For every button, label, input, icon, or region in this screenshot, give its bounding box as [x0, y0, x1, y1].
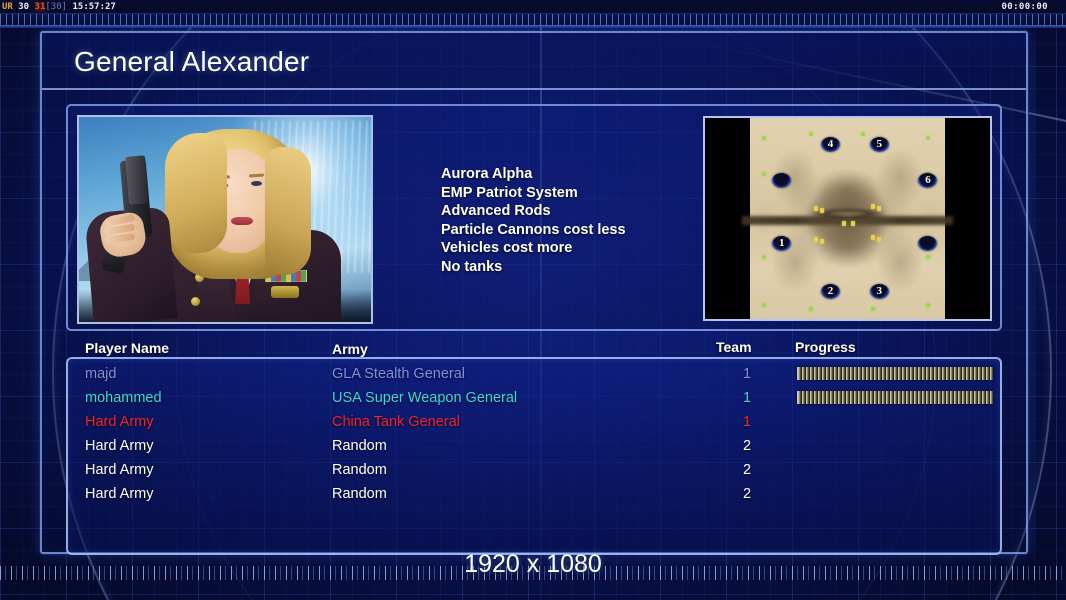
player-progress-bar	[797, 391, 993, 404]
supply-dock-icon	[926, 255, 930, 259]
map-start-position[interactable]	[918, 236, 937, 251]
oil-derrick-icon	[851, 221, 855, 226]
ability-line: Advanced Rods	[441, 202, 691, 221]
match-timer: 00:00:00	[1001, 1, 1048, 13]
top-ruler-strip	[0, 14, 1066, 25]
supply-dock-icon	[762, 172, 766, 176]
portrait-lips	[231, 217, 253, 225]
supply-dock-icon	[871, 307, 875, 311]
general-abilities-list: Aurora AlphaEMP Patriot SystemAdvanced R…	[441, 165, 691, 277]
oil-derrick-icon	[871, 204, 875, 209]
column-header-player-name: Player Name	[85, 340, 169, 356]
player-army-cell: Random	[332, 434, 387, 458]
player-army-cell: Random	[332, 482, 387, 506]
map-start-position[interactable]: 5	[870, 137, 889, 152]
pistol-slide-icon	[125, 155, 149, 205]
debug-prefix: UR	[2, 2, 13, 12]
oil-derrick-icon	[814, 237, 818, 242]
portrait-hair-side	[265, 147, 311, 275]
top-status-bar	[0, 0, 1066, 14]
ability-line: Aurora Alpha	[441, 165, 691, 184]
player-name-cell: majd	[85, 362, 116, 386]
player-list-headers: Player Name Army Team Progress	[66, 338, 1002, 358]
ability-line: No tanks	[441, 258, 691, 277]
ability-line: Vehicles cost more	[441, 239, 691, 258]
map-image: 456123	[750, 118, 945, 319]
player-rows: majdGLA Stealth General1mohammedUSA Supe…	[66, 362, 1002, 506]
loading-screen: UR 30 31[30] 15:57:27 00:00:00 General A…	[0, 0, 1066, 600]
oil-derrick-icon	[842, 221, 846, 226]
table-row: Hard ArmyChina Tank General1	[66, 410, 1002, 434]
portrait-badge	[271, 286, 299, 298]
ability-line: Particle Cannons cost less	[441, 221, 691, 240]
column-header-team: Team	[716, 339, 752, 355]
table-row: majdGLA Stealth General1	[66, 362, 1002, 386]
player-army-cell: China Tank General	[332, 410, 460, 434]
map-start-position[interactable]: 3	[870, 284, 889, 299]
portrait-hair-front	[165, 133, 227, 253]
supply-dock-icon	[809, 132, 813, 136]
ability-line: EMP Patriot System	[441, 184, 691, 203]
supply-dock-icon	[926, 136, 930, 140]
oil-derrick-icon	[877, 206, 881, 211]
player-team-cell: 2	[743, 434, 751, 458]
map-start-position[interactable]: 2	[821, 284, 840, 299]
player-army-cell: USA Super Weapon General	[332, 386, 517, 410]
portrait-button-lower	[191, 297, 200, 306]
player-name-cell: Hard Army	[85, 482, 154, 506]
general-portrait	[77, 115, 373, 324]
map-preview[interactable]: 456123	[703, 116, 992, 321]
table-row: Hard ArmyRandom2	[66, 458, 1002, 482]
table-row: Hard ArmyRandom2	[66, 434, 1002, 458]
debug-number-2: 31	[35, 2, 46, 12]
resolution-label: 1920 x 1080	[0, 550, 1066, 579]
debug-brackets: [30]	[45, 2, 67, 12]
supply-dock-icon	[762, 303, 766, 307]
player-name-cell: Hard Army	[85, 434, 154, 458]
map-start-position[interactable]: 1	[772, 236, 791, 251]
player-name-cell: Hard Army	[85, 410, 154, 434]
player-team-cell: 2	[743, 482, 751, 506]
map-start-position[interactable]: 4	[821, 137, 840, 152]
top-ruler-accent	[0, 25, 1066, 28]
supply-dock-icon	[762, 255, 766, 259]
player-name-cell: mohammed	[85, 386, 162, 410]
table-row: mohammedUSA Super Weapon General1	[66, 386, 1002, 410]
supply-dock-icon	[809, 307, 813, 311]
oil-derrick-icon	[877, 237, 881, 242]
player-progress-bar	[797, 367, 993, 380]
portrait-eye-right	[251, 181, 262, 186]
debug-clock: 15:57:27	[72, 2, 115, 12]
debug-status-text: UR 30 31[30] 15:57:27	[2, 1, 116, 13]
player-team-cell: 1	[743, 362, 751, 386]
player-team-cell: 1	[743, 410, 751, 434]
oil-derrick-icon	[871, 235, 875, 240]
supply-dock-icon	[926, 303, 930, 307]
page-title: General Alexander	[74, 46, 309, 78]
oil-derrick-icon	[820, 208, 824, 213]
supply-dock-icon	[762, 136, 766, 140]
column-header-army: Army	[332, 341, 368, 357]
debug-number-1: 30	[18, 2, 29, 12]
player-army-cell: GLA Stealth General	[332, 362, 465, 386]
player-name-cell: Hard Army	[85, 458, 154, 482]
column-header-progress: Progress	[795, 339, 856, 355]
table-row: Hard ArmyRandom2	[66, 482, 1002, 506]
player-army-cell: Random	[332, 458, 387, 482]
oil-derrick-icon	[820, 239, 824, 244]
player-team-cell: 2	[743, 458, 751, 482]
player-team-cell: 1	[743, 386, 751, 410]
